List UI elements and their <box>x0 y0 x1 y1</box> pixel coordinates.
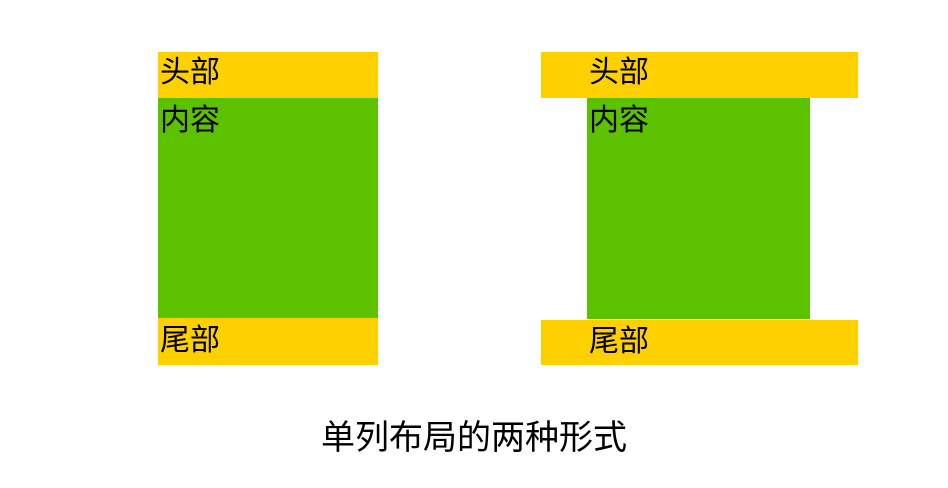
flush-content-label: 内容 <box>160 106 220 136</box>
figure-caption: 单列布局的两种形式 <box>0 415 948 461</box>
diagram-canvas: 头部 内容 尾部 头部 内容 尾部 单列布局的两种形式 <box>0 0 948 488</box>
fullbar-header-block: 头部 <box>541 52 858 98</box>
fullbar-footer-label: 尾部 <box>589 327 649 357</box>
flush-header-label: 头部 <box>160 58 220 88</box>
fullbar-content-label: 内容 <box>589 106 649 136</box>
flush-header-block: 头部 <box>158 52 378 98</box>
flush-footer-label: 尾部 <box>160 326 220 356</box>
flush-content-block: 内容 <box>158 98 378 318</box>
diagram-full-width-bar-single-column: 头部 内容 尾部 <box>541 52 858 365</box>
diagram-flush-single-column: 头部 内容 尾部 <box>158 52 378 365</box>
fullbar-content-block: 内容 <box>587 98 810 319</box>
fullbar-footer-block: 尾部 <box>541 320 858 365</box>
flush-footer-block: 尾部 <box>158 318 378 365</box>
fullbar-header-label: 头部 <box>589 58 649 88</box>
